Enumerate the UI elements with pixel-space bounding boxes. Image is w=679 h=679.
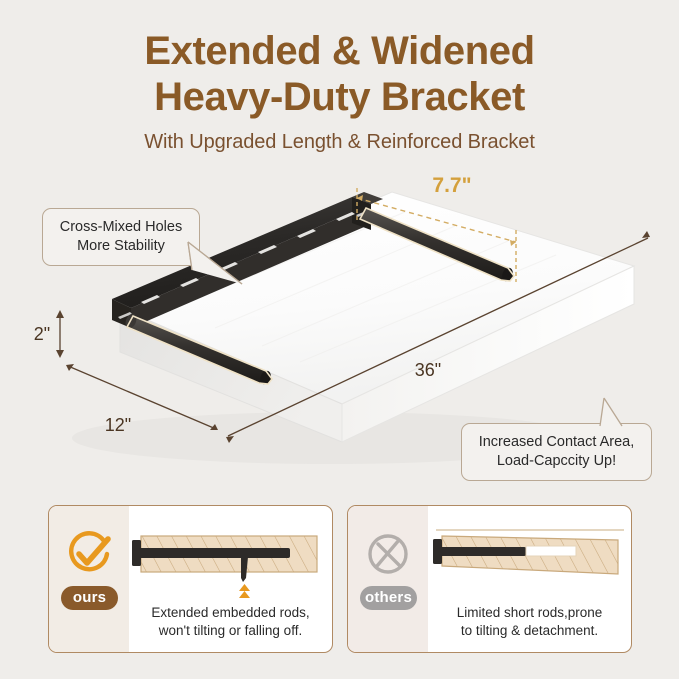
dimension-label-depth: 12" (105, 415, 131, 435)
caption-line-1: Limited short rods,prone (434, 604, 625, 622)
infographic-canvas: Extended & Widened Heavy-Duty Bracket Wi… (0, 0, 679, 679)
dimension-label-rod-length: 7.7" (432, 174, 471, 197)
badge-others: others (360, 586, 417, 610)
title-line-2: Heavy-Duty Bracket (0, 74, 679, 120)
caption-line-2: won't tilting or falling off. (135, 622, 326, 640)
callout-line-2: Load-Capccity Up! (472, 452, 641, 471)
callout-increased-contact-area: Increased Contact Area, Load-Capccity Up… (461, 423, 652, 481)
panel-caption-ours: Extended embedded rods, won't tilting or… (135, 604, 326, 640)
caption-line-1: Extended embedded rods, (135, 604, 326, 622)
callout-line-2: More Stability (53, 237, 189, 256)
callout-line-1: Increased Contact Area, (472, 433, 641, 452)
comparison-panel-others: others Limite (347, 505, 632, 653)
panel-caption-others: Limited short rods,prone to tilting & de… (434, 604, 625, 640)
caption-line-2: to tilting & detachment. (434, 622, 625, 640)
callout-cross-mixed-holes: Cross-Mixed Holes More Stability (42, 208, 200, 266)
circle-x-icon (362, 528, 414, 580)
page-subtitle: With Upgraded Length & Reinforced Bracke… (0, 131, 679, 154)
page-title: Extended & Widened Heavy-Duty Bracket Wi… (0, 28, 679, 154)
title-line-1: Extended & Widened (0, 28, 679, 74)
dimension-label-thickness: 2" (34, 324, 50, 344)
figure-short-rod (428, 512, 631, 604)
comparison-section: ours (0, 505, 679, 657)
comparison-panel-ours: ours (48, 505, 333, 653)
dimension-label-width: 36" (415, 360, 441, 380)
callout-line-1: Cross-Mixed Holes (53, 218, 189, 237)
circle-check-icon (63, 528, 115, 580)
figure-extended-rod (129, 512, 332, 604)
badge-ours: ours (61, 586, 118, 610)
